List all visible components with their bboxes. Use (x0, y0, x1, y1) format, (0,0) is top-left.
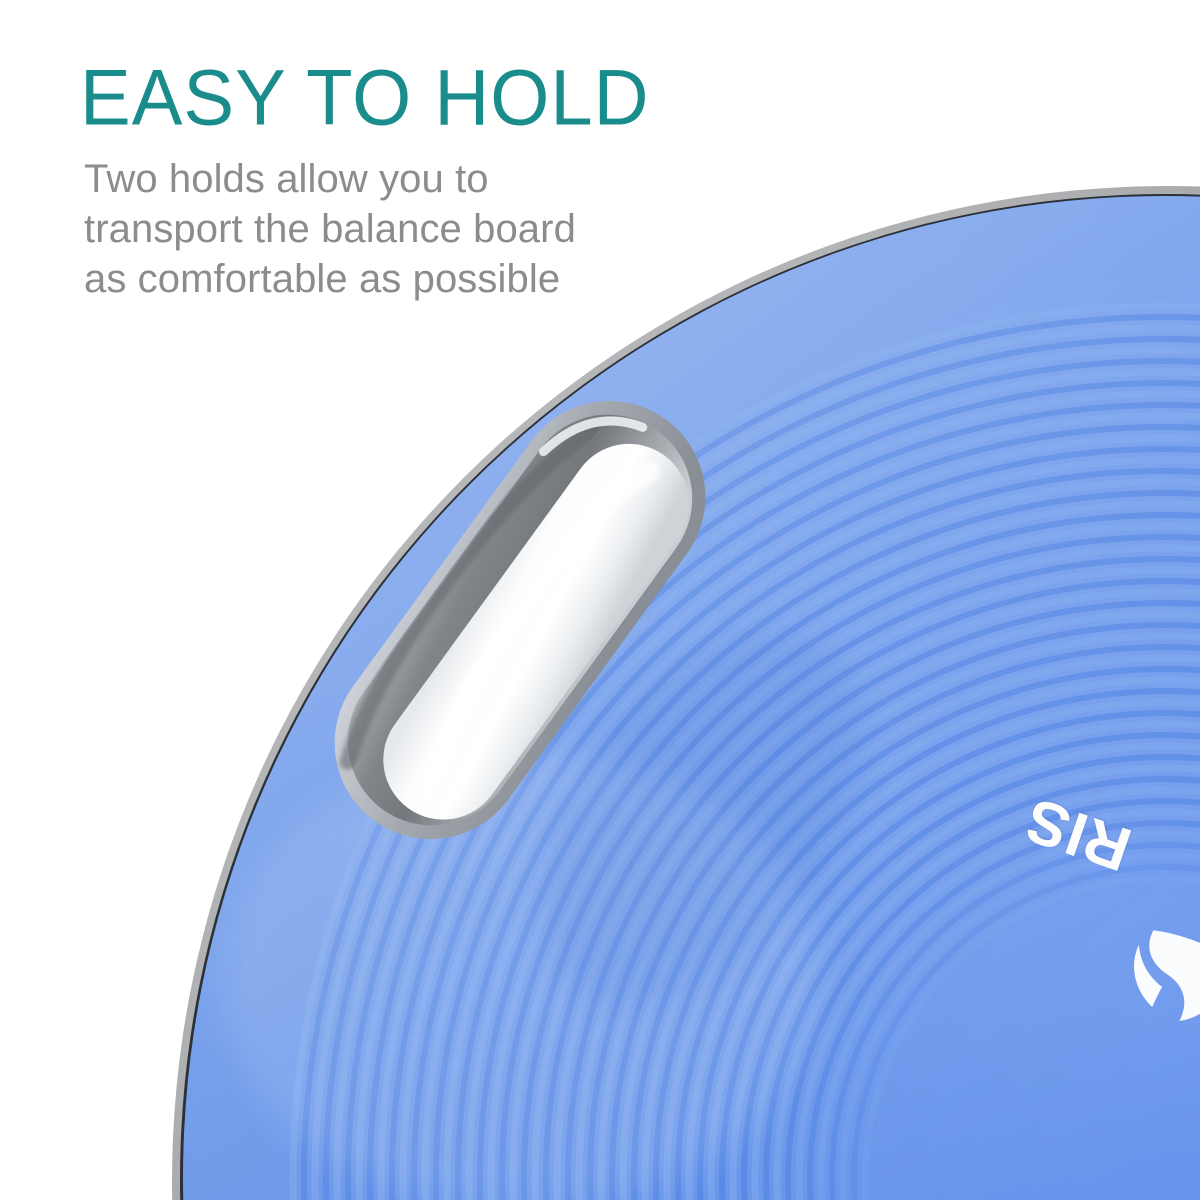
description-line-2: transport the balance board (84, 204, 700, 254)
page-title: EASY TO HOLD (80, 56, 700, 141)
feature-description: Two holds allow you to transport the bal… (84, 154, 700, 304)
product-feature-image: RIS EASY TO HOLD Two holds allow you to … (0, 0, 1200, 1200)
description-line-3: as comfortable as possible (84, 254, 700, 304)
description-line-1: Two holds allow you to (84, 154, 700, 204)
feature-callout: EASY TO HOLD Two holds allow you to tran… (80, 56, 700, 304)
